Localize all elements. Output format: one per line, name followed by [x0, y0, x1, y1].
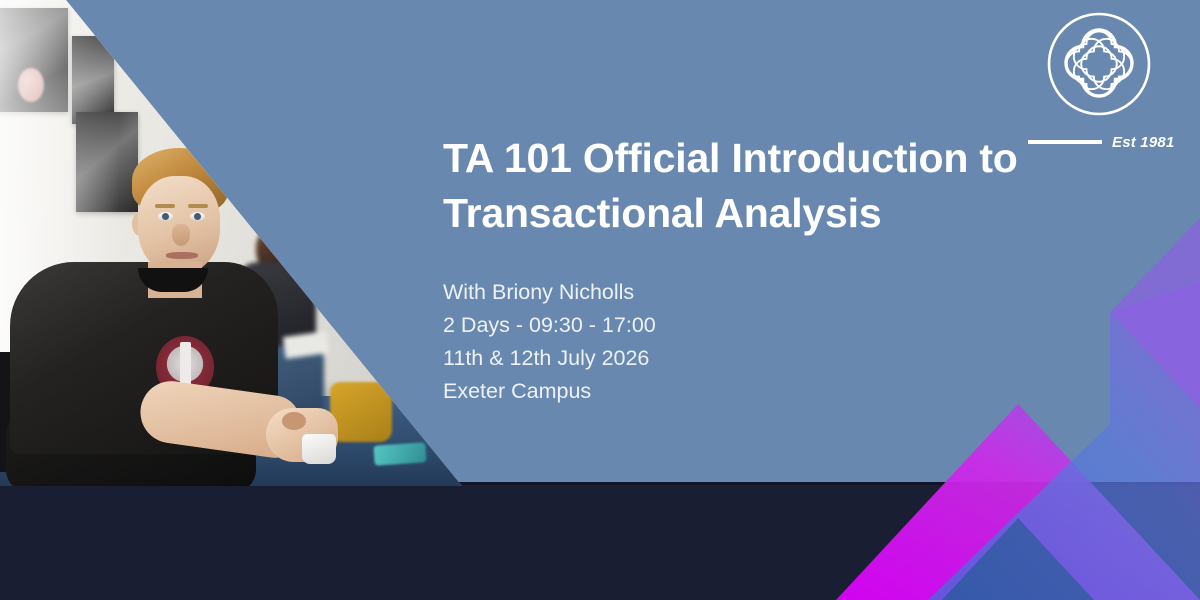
event-detail-location: Exeter Campus — [443, 375, 1043, 408]
logo-established-label: Est 1981 — [1112, 134, 1174, 151]
banner-content: TA 101 Official Introduction to Transact… — [443, 131, 1043, 408]
photo-teal-item — [373, 442, 426, 466]
quatrefoil-logo-icon — [1044, 8, 1154, 120]
event-detail-presenter: With Briony Nicholls — [443, 276, 1043, 309]
photo-person-thumb — [282, 412, 306, 430]
event-detail-duration: 2 Days - 09:30 - 17:00 — [443, 309, 1043, 342]
event-details: With Briony Nicholls 2 Days - 09:30 - 17… — [443, 276, 1043, 408]
photo-person-brow-right — [188, 204, 208, 208]
photo-person-brow-left — [155, 204, 175, 208]
event-title: TA 101 Official Introduction to Transact… — [443, 131, 1033, 240]
brand-logo: Est 1981 — [1028, 8, 1178, 156]
photo-person-pupil-left — [162, 213, 169, 220]
bottom-navy-band — [0, 482, 1200, 600]
logo-established: Est 1981 — [1028, 132, 1178, 152]
photo-person-nose — [172, 224, 190, 246]
event-detail-dates: 11th & 12th July 2026 — [443, 342, 1043, 375]
photo-person-mouth — [166, 252, 198, 259]
photo-person-pupil-right — [194, 213, 201, 220]
event-banner: Est 1981 TA 101 Official Introduction to… — [0, 0, 1200, 600]
photo-person-cup — [302, 434, 336, 464]
